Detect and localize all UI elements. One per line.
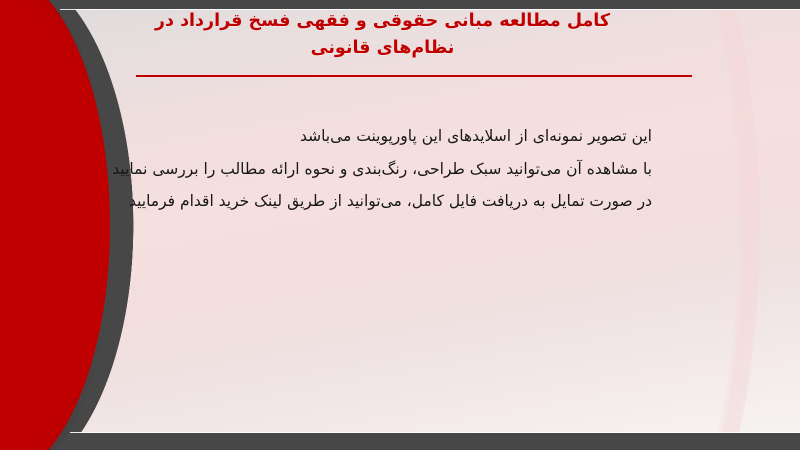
slide-title-line-1: کامل مطالعه مبانی حقوقی و فقهی فسخ قرارد… [110,8,655,35]
slide-title-line-2: نظام‌های قانونی [110,35,655,62]
slide-title: کامل مطالعه مبانی حقوقی و فقهی فسخ قرارد… [110,8,655,62]
title-divider-line [136,75,692,77]
presentation-slide: کامل مطالعه مبانی حقوقی و فقهی فسخ قرارد… [0,0,800,450]
panel-bottom-highlight [70,432,800,433]
slide-body-text: این تصویر نمونه‌ای از اسلایدهای این پاور… [142,120,652,218]
body-line-1: این تصویر نمونه‌ای از اسلایدهای این پاور… [142,120,652,153]
background-arc-6 [60,9,800,433]
body-line-3: در صورت تمایل به دریافت فایل کامل، می‌تو… [142,185,652,218]
body-line-2: با مشاهده آن می‌توانید سبک طراحی، رنگ‌بن… [142,153,652,186]
